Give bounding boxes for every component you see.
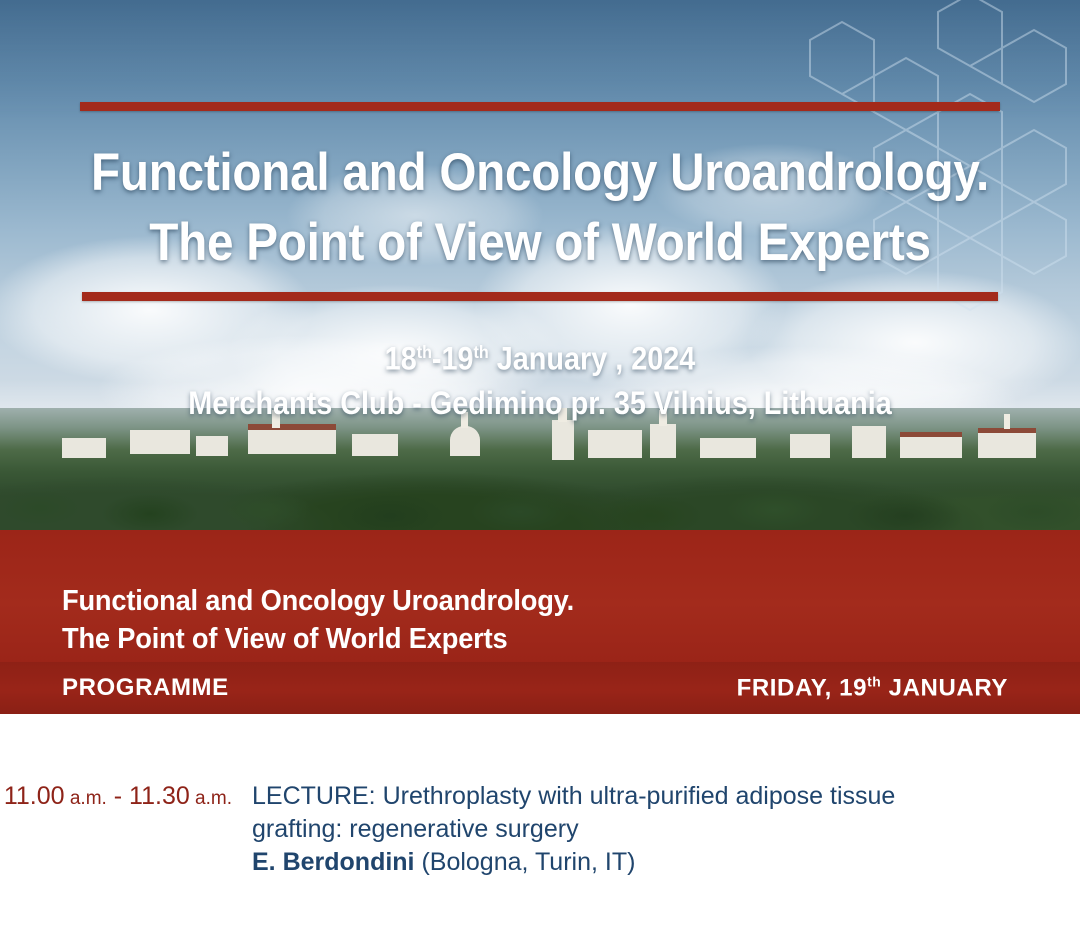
title-rule-bottom	[82, 292, 998, 301]
session-time-end-unit: a.m.	[195, 788, 232, 809]
date-ordinal-suffix: th	[474, 342, 489, 362]
hero-title-line-1: Functional and Oncology Uroandrology.	[54, 138, 1026, 208]
session-time-dash: -	[114, 782, 122, 810]
programme-day-strip: PROGRAMME FRIDAY, 19th JANUARY	[0, 662, 1080, 714]
session-speaker-name: E. Berdondini	[252, 848, 415, 876]
conference-poster: Functional and Oncology Uroandrology. Th…	[0, 0, 1080, 938]
session-time: 11.00 a.m. - 11.30 a.m.	[0, 780, 252, 879]
vilnius-skyline-photo	[0, 408, 1080, 530]
programme-body: 11.00 a.m. - 11.30 a.m. LECTURE: Urethro…	[0, 714, 1080, 938]
session-title-line-2: grafting: regenerative surgery	[252, 813, 1000, 846]
programme-label: PROGRAMME	[62, 674, 229, 702]
date-ordinal-suffix: th	[417, 342, 432, 362]
event-venue: Merchants Club - Gedimino pr. 35 Vilnius…	[54, 381, 1026, 425]
session-time-start-unit: a.m.	[70, 788, 107, 809]
page-title: Functional and Oncology Uroandrology. Th…	[54, 138, 1026, 278]
event-date: 18th-19th January , 2024	[54, 330, 1026, 381]
title-rule-top	[80, 102, 1000, 111]
programme-banner: Functional and Oncology Uroandrology. Th…	[0, 530, 1080, 714]
session-title-line-1: LECTURE: Urethroplasty with ultra-purifi…	[252, 780, 1000, 813]
banner-title-line-1: Functional and Oncology Uroandrology.	[62, 582, 574, 620]
session-speaker-row: E. Berdondini (Bologna, Turin, IT)	[252, 846, 1000, 879]
banner-title: Functional and Oncology Uroandrology. Th…	[62, 582, 574, 658]
day-ordinal-suffix: th	[867, 674, 881, 690]
hero-title-line-2: The Point of View of World Experts	[54, 208, 1026, 278]
programme-day-label: FRIDAY, 19th JANUARY	[737, 674, 1008, 703]
session-detail: LECTURE: Urethroplasty with ultra-purifi…	[252, 780, 1080, 879]
session-row: 11.00 a.m. - 11.30 a.m. LECTURE: Urethro…	[0, 780, 1080, 879]
banner-title-line-2: The Point of View of World Experts	[62, 620, 574, 658]
hero-section: Functional and Oncology Uroandrology. Th…	[0, 0, 1080, 530]
session-speaker-affiliation: (Bologna, Turin, IT)	[415, 848, 636, 876]
event-details: 18th-19th January , 2024 Merchants Club …	[54, 330, 1026, 425]
